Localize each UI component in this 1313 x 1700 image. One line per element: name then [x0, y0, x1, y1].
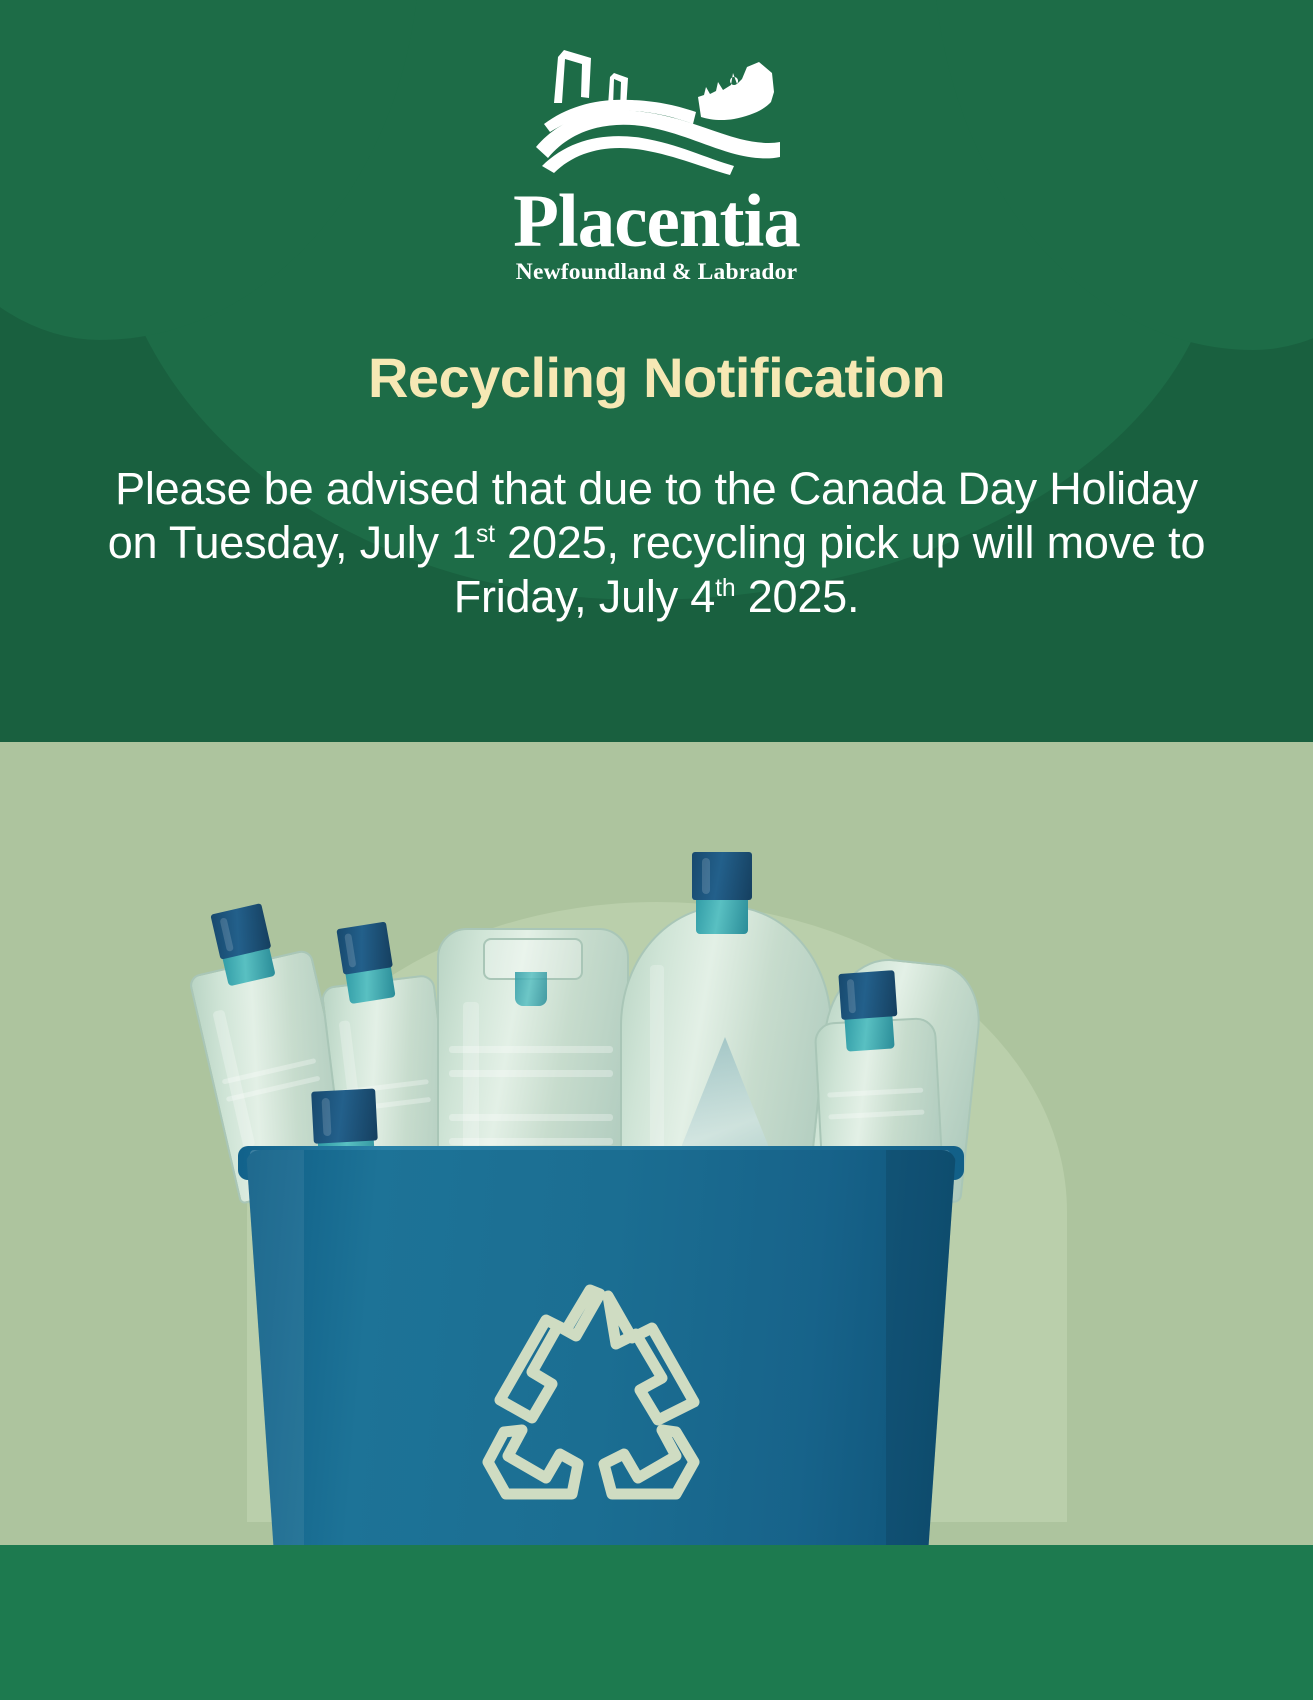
brand-tagline: Newfoundland & Labrador — [516, 259, 797, 286]
notice-body: Please be advised that due to the Canada… — [97, 462, 1217, 624]
recycle-icon — [480, 1280, 720, 1510]
notice-line-3-ordinal: th — [715, 575, 735, 602]
page-title: Recycling Notification — [0, 345, 1313, 410]
brand-name: Placentia — [513, 187, 800, 256]
bottle-2-top — [332, 921, 401, 1005]
notice-line-2-post: 2025, recycling — [495, 517, 807, 568]
notice-line-1: Please be advised that due to the Canada… — [115, 463, 1037, 514]
footer-bar — [0, 1545, 1313, 1700]
recycling-notification-poster: Placentia Newfoundland & Labrador Recycl… — [0, 0, 1313, 1700]
bottle-6-top — [835, 970, 902, 1052]
notice-line-2-ordinal: st — [476, 521, 495, 548]
brand-logo: Placentia Newfoundland & Labrador — [0, 40, 1313, 286]
bottle-4-top — [690, 852, 756, 934]
notice-line-3-post: 2025. — [735, 571, 859, 622]
header-panel: Placentia Newfoundland & Labrador Recycl… — [0, 0, 1313, 742]
placentia-town-waves-icon — [528, 40, 786, 175]
